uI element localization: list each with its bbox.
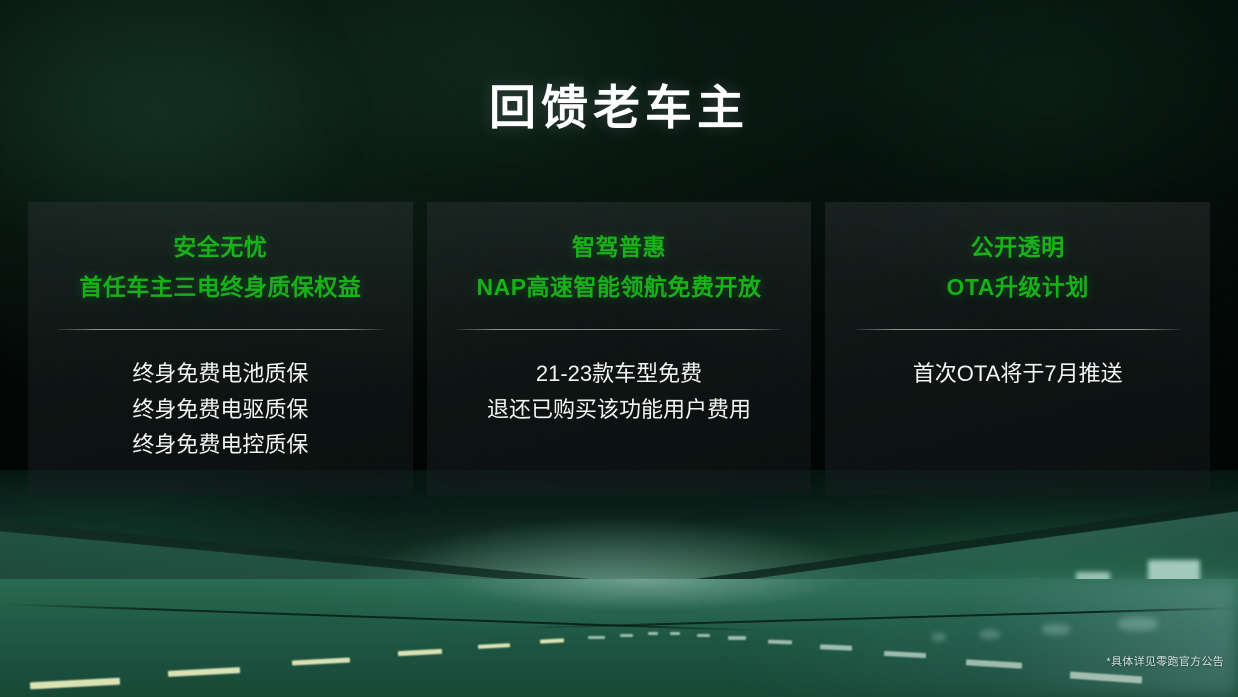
lane-dash-marker — [588, 636, 605, 639]
benefit-card[interactable]: 安全无忧 首任车主三电终身质保权益 终身免费电池质保 终身免费电驱质保 终身免费… — [28, 202, 413, 495]
card-heading-line1: 公开透明 — [971, 234, 1065, 260]
card-heading-line1: 智驾普惠 — [572, 234, 666, 260]
lane-dash-marker — [620, 634, 633, 637]
presentation-slide: 回馈老车主 安全无忧 首任车主三电终身质保权益 终身免费电池质保 终身免费电驱质… — [0, 0, 1238, 697]
card-item: 终身免费电驱质保 — [28, 392, 413, 428]
lane-dash-marker — [768, 640, 792, 645]
benefit-card[interactable]: 智驾普惠 NAP高速智能领航免费开放 21-23款车型免费 退还已购买该功能用户… — [427, 202, 812, 495]
card-item-list: 首次OTA将于7月推送 — [825, 330, 1210, 392]
road-light-reflection — [1042, 624, 1070, 635]
card-item: 终身免费电池质保 — [28, 356, 413, 392]
card-heading-line2: OTA升级计划 — [825, 268, 1210, 308]
tunnel-road-scene — [0, 470, 1238, 697]
card-item: 首次OTA将于7月推送 — [825, 356, 1210, 392]
card-heading: 公开透明 OTA升级计划 — [825, 202, 1210, 307]
road-light-reflection — [980, 630, 1000, 639]
card-heading-line2: NAP高速智能领航免费开放 — [427, 268, 812, 308]
road-light-reflection — [932, 633, 946, 641]
lane-dash-marker — [697, 634, 710, 637]
road-light-reflection — [1118, 617, 1158, 631]
card-heading: 安全无忧 首任车主三电终身质保权益 — [28, 202, 413, 307]
card-item-list: 21-23款车型免费 退还已购买该功能用户费用 — [427, 330, 812, 427]
card-item: 21-23款车型免费 — [427, 356, 812, 392]
card-heading: 智驾普惠 NAP高速智能领航免费开放 — [427, 202, 812, 307]
benefit-card[interactable]: 公开透明 OTA升级计划 首次OTA将于7月推送 — [825, 202, 1210, 495]
footnote-disclaimer: *具体详见零跑官方公告 — [1106, 653, 1224, 669]
lane-dash-marker — [648, 632, 658, 635]
lane-dash-marker — [670, 632, 680, 635]
card-item-list: 终身免费电池质保 终身免费电驱质保 终身免费电控质保 — [28, 330, 413, 463]
card-item: 终身免费电控质保 — [28, 427, 413, 463]
benefit-card-list: 安全无忧 首任车主三电终身质保权益 终身免费电池质保 终身免费电驱质保 终身免费… — [28, 202, 1210, 495]
card-heading-line2: 首任车主三电终身质保权益 — [28, 268, 413, 308]
card-heading-line1: 安全无忧 — [173, 234, 267, 260]
page-title: 回馈老车主 — [0, 82, 1238, 134]
lane-dash-marker — [728, 636, 746, 640]
card-item: 退还已购买该功能用户费用 — [427, 392, 812, 428]
